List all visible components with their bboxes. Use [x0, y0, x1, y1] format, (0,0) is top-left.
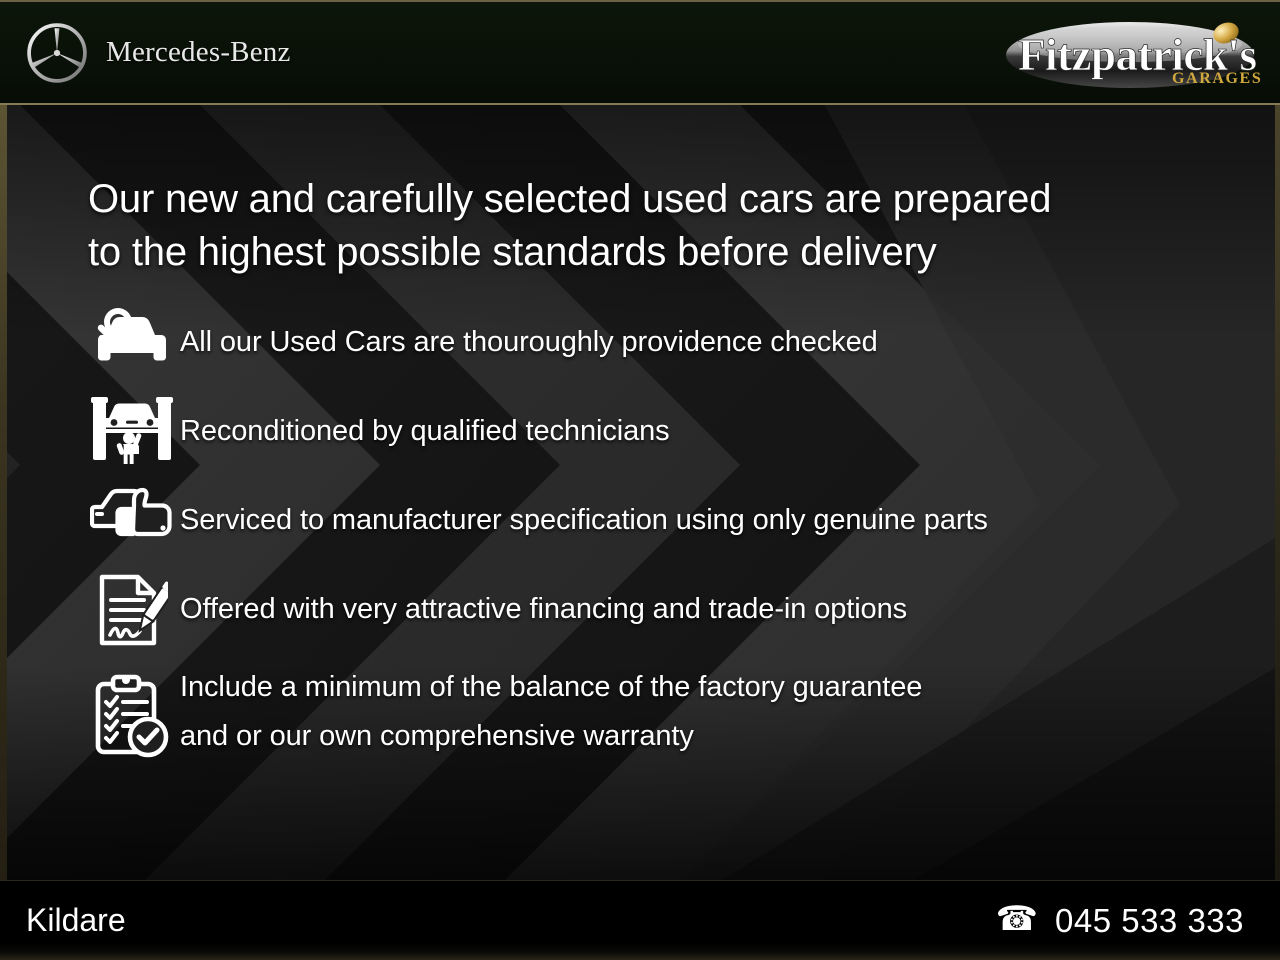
svg-text:GARAGES: GARAGES: [1172, 70, 1262, 87]
feature-line: and or our own comprehensive warranty: [180, 712, 922, 761]
feature-item: Reconditioned by qualified technicians: [84, 390, 1244, 470]
feature-item: Include a minimum of the balance of the …: [84, 657, 1244, 775]
feature-item: Serviced to manufacturer specification u…: [84, 479, 1244, 559]
footer-bar: Kildare ☎ 045 533 333: [0, 880, 1280, 960]
document-pen-signature-icon: [84, 568, 180, 648]
header-bar: Mercedes-Benz: [0, 0, 1280, 105]
feature-list: All our Used Cars are thouroughly provid…: [84, 301, 1244, 784]
slide-content: Our new and carefully selected used cars…: [0, 105, 1280, 880]
feature-text: Reconditioned by qualified technicians: [180, 390, 670, 456]
feature-line: All our Used Cars are thouroughly provid…: [180, 318, 878, 367]
clipboard-checklist-verified-icon: [84, 657, 180, 759]
mercedes-benz-brand: Mercedes-Benz: [26, 22, 291, 84]
feature-text: Include a minimum of the balance of the …: [180, 657, 922, 761]
car-thumbs-up-icon: [84, 479, 180, 541]
car-on-lift-mechanic-icon: [84, 390, 180, 466]
car-magnifier-inspection-icon: [84, 301, 180, 375]
feature-line: Offered with very attractive financing a…: [180, 585, 907, 634]
promo-slide: Mercedes-Benz: [0, 0, 1280, 960]
feature-line: Reconditioned by qualified technicians: [180, 407, 670, 456]
mercedes-benz-wordmark: Mercedes-Benz: [106, 36, 291, 69]
phone-number[interactable]: 045 533 333: [1055, 902, 1244, 940]
footer-phone-group[interactable]: ☎ 045 533 333: [996, 902, 1244, 940]
feature-line: Serviced to manufacturer specification u…: [180, 496, 988, 545]
telephone-icon: ☎: [996, 902, 1038, 936]
feature-text: Serviced to manufacturer specification u…: [180, 479, 988, 545]
feature-line: Include a minimum of the balance of the …: [180, 663, 922, 712]
feature-item: Offered with very attractive financing a…: [84, 568, 1244, 648]
feature-text: Offered with very attractive financing a…: [180, 568, 907, 634]
mercedes-star-icon: [26, 22, 88, 84]
fitzpatricks-garages-logo: Fitzpatrick's GARAGES: [1004, 14, 1262, 96]
headline-line-1: Our new and carefully selected used cars…: [88, 173, 1188, 226]
footer-location: Kildare: [26, 902, 126, 939]
feature-item: All our Used Cars are thouroughly provid…: [84, 301, 1244, 381]
headline: Our new and carefully selected used cars…: [88, 173, 1188, 279]
feature-text: All our Used Cars are thouroughly provid…: [180, 301, 878, 367]
headline-line-2: to the highest possible standards before…: [88, 226, 1188, 279]
